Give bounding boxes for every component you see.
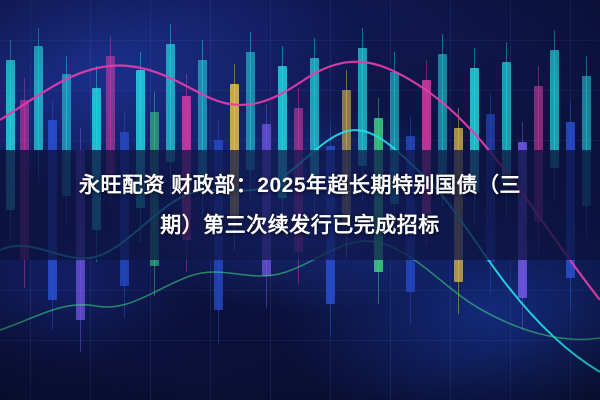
headline-text: 永旺配资 财政部：2025年超长期特别国债（三 期）第三次续发行已完成招标 <box>0 160 600 252</box>
headline-line-1: 永旺配资 财政部：2025年超长期特别国债（三 <box>79 166 521 206</box>
headline-line-2: 期）第三次续发行已完成招标 <box>160 206 440 246</box>
news-cover-image: 永旺配资 财政部：2025年超长期特别国债（三 期）第三次续发行已完成招标 <box>0 0 600 400</box>
